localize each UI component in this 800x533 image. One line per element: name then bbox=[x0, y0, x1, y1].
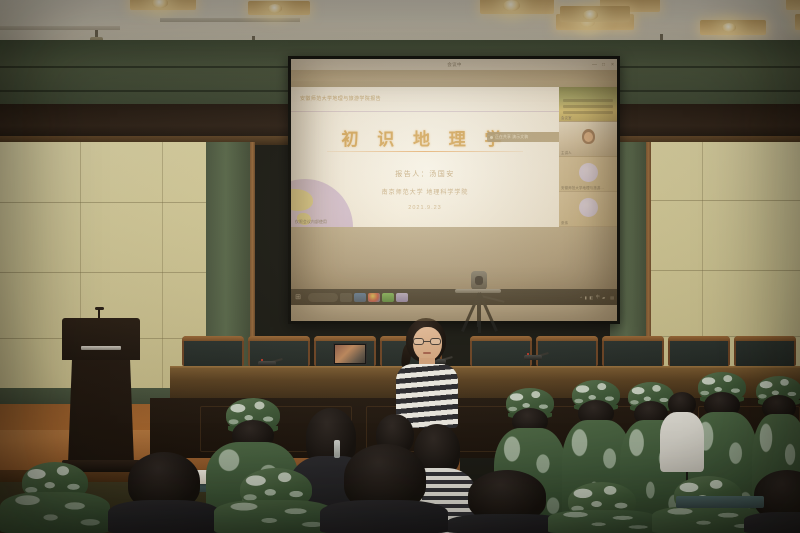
presenter bbox=[392, 318, 466, 428]
taskbar-taskview-icon[interactable] bbox=[340, 293, 352, 302]
lectern-tray bbox=[81, 346, 121, 350]
tray-network-icon[interactable]: ▮ bbox=[585, 295, 587, 300]
projection-screen: 会议中 — □ × 安徽师范大学地理与旅游学院报告 bbox=[288, 56, 620, 324]
white-shirt bbox=[660, 412, 704, 472]
table-microphone bbox=[258, 358, 276, 366]
window-title: 会议中 bbox=[319, 62, 590, 68]
slide-presenter-line: 报告人：汤国安 bbox=[291, 169, 559, 179]
meeting-app-canvas: 安徽师范大学地理与旅游学院报告 初 识 地 理 学 报告人：汤国安 南京师范大学… bbox=[291, 70, 617, 305]
camera-lens-icon bbox=[475, 276, 483, 285]
camo-uniform bbox=[214, 500, 334, 533]
participant-tile[interactable]: 张伟 bbox=[559, 192, 617, 227]
tray-battery-icon[interactable]: ▰ bbox=[602, 295, 605, 300]
lecture-hall-photo: 会议中 — □ × 安徽师范大学地理与旅游学院报告 bbox=[0, 0, 800, 533]
participant-tile[interactable]: 会议室 bbox=[559, 87, 617, 122]
start-button-icon[interactable]: ⊞ bbox=[291, 293, 305, 301]
torso bbox=[320, 500, 448, 533]
taskbar-chrome-icon[interactable] bbox=[368, 293, 380, 302]
taskbar-system-tray: ^ ▮ ◧ 中 ▰ ▤ bbox=[580, 294, 617, 300]
confidence-monitor bbox=[333, 343, 367, 365]
sharing-banner-text: 正在共享 演示文稿 bbox=[495, 135, 528, 140]
monitor-screen bbox=[335, 345, 365, 363]
taskbar-edge-icon[interactable] bbox=[354, 293, 366, 302]
participant-tile[interactable]: 主讲人 bbox=[559, 122, 617, 157]
tray-chevron-icon[interactable]: ^ bbox=[580, 295, 582, 300]
maximize-button[interactable]: □ bbox=[599, 62, 608, 68]
meeting-watermark: 仅限会议内部使用 bbox=[295, 220, 327, 225]
camo-uniform bbox=[0, 492, 110, 533]
taskbar-media-icon[interactable] bbox=[382, 293, 394, 302]
window-titlebar: 会议中 — □ × bbox=[291, 59, 617, 70]
minimize-button[interactable]: — bbox=[590, 62, 599, 68]
water-bottle bbox=[334, 440, 340, 458]
slide-title-rule bbox=[327, 151, 523, 152]
slide-affiliation: 南京师范大学 地理科学学院 bbox=[291, 187, 559, 196]
close-button[interactable]: × bbox=[608, 62, 617, 68]
ceiling-lamp bbox=[268, 4, 282, 13]
sharing-indicator-icon bbox=[490, 136, 493, 139]
participant-name: 张伟 bbox=[561, 220, 568, 225]
tray-volume-icon[interactable]: ◧ bbox=[589, 295, 593, 300]
audience-member bbox=[108, 452, 220, 533]
participant-tile[interactable]: 安徽师范大学地理与旅游... bbox=[559, 157, 617, 192]
ceiling-lamp bbox=[722, 23, 736, 32]
participant-name: 主讲人 bbox=[561, 150, 572, 155]
torso bbox=[108, 500, 220, 533]
notification-center-icon[interactable]: ▤ bbox=[610, 295, 614, 300]
camo-uniform bbox=[548, 510, 658, 533]
avatar bbox=[579, 163, 598, 182]
projected-desktop: 会议中 — □ × 安徽师范大学地理与旅游学院报告 bbox=[291, 59, 617, 321]
audience-member bbox=[548, 482, 658, 533]
tripod-leg bbox=[478, 293, 481, 333]
ceiling-lamp bbox=[583, 10, 598, 20]
torso bbox=[744, 512, 800, 533]
slide-header-rule bbox=[291, 111, 559, 112]
tray-ime-icon[interactable]: 中 bbox=[596, 294, 600, 300]
table-microphone bbox=[524, 352, 542, 360]
glasses-icon bbox=[413, 338, 441, 345]
taskbar-app-icon[interactable] bbox=[396, 293, 408, 302]
slide-date: 2021.9.23 bbox=[291, 205, 559, 211]
presenter-mouth bbox=[423, 352, 431, 354]
avatar bbox=[579, 198, 598, 217]
lectern-top bbox=[62, 318, 140, 360]
windows-taskbar: ⊞ ^ ▮ ◧ 中 ▰ ▤ bbox=[291, 289, 617, 305]
audience-member bbox=[0, 462, 110, 533]
audience-member bbox=[214, 468, 334, 533]
audience-member bbox=[660, 392, 704, 472]
desktop-wallpaper-area bbox=[291, 227, 617, 289]
lectern-body bbox=[68, 360, 134, 464]
slide-header-text: 安徽师范大学地理与旅游学院报告 bbox=[300, 95, 381, 102]
taskbar-search-box[interactable] bbox=[308, 293, 338, 302]
participant-name: 会议室 bbox=[561, 115, 572, 120]
audience-desk bbox=[676, 496, 764, 508]
sharing-banner: 正在共享 演示文稿 bbox=[487, 132, 559, 142]
participant-name: 安徽师范大学地理与旅游... bbox=[561, 185, 604, 190]
